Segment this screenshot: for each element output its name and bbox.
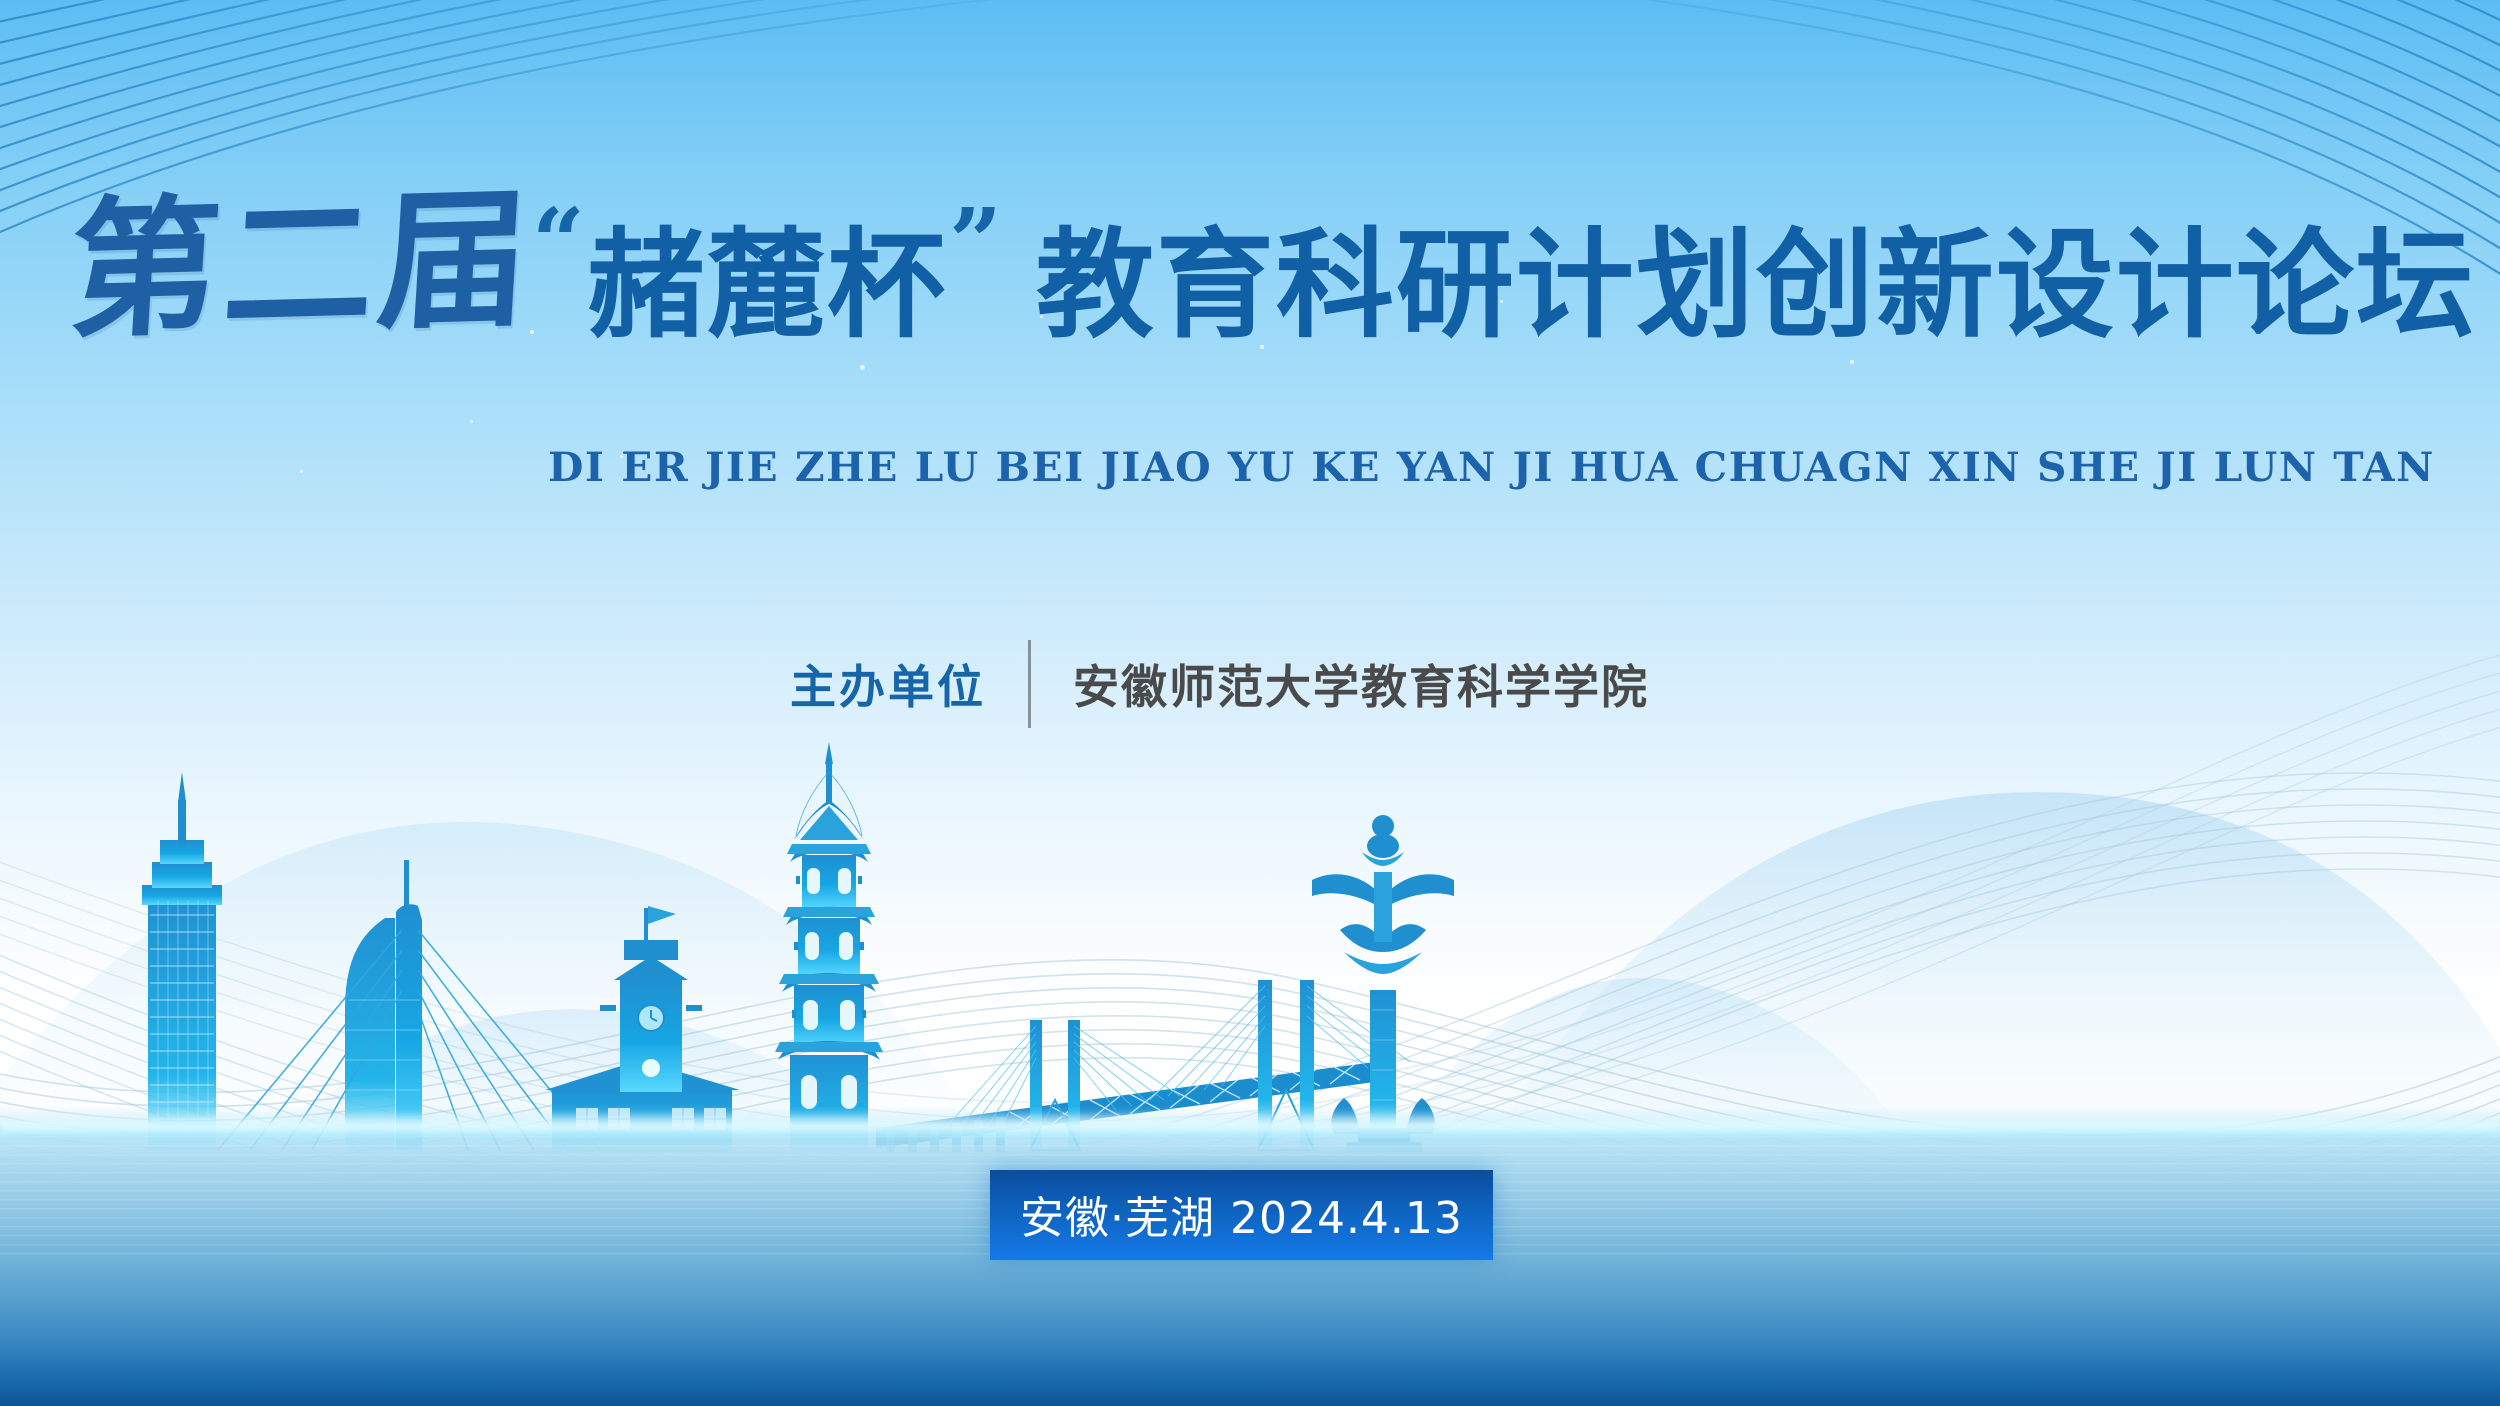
location-date-text: 安徽·芜湖 2024.4.13 — [1020, 1193, 1463, 1244]
organizer-divider — [1028, 640, 1031, 728]
poster-canvas: 第二届 “ 赭麓杯 ” 教育科研计划创新设计论坛 DI ER JIE ZHE L… — [0, 0, 2500, 1406]
organizer-name: 安徽师范大学教育科学学院 — [1073, 651, 1649, 717]
headline-main-title: 教育科研计划创新设计论坛 — [1036, 226, 2476, 346]
sparkle-dot — [470, 420, 473, 423]
headline-pinyin-subtitle: DI ER JIE ZHE LU BEI JIAO YU KE YAN JI H… — [548, 444, 2435, 491]
horizon-glow — [0, 1112, 2500, 1138]
skyscraper-tower — [142, 772, 222, 1150]
headline-cup-name: 赭麓杯 — [587, 226, 947, 346]
headline-ordinal: 第二届 — [65, 184, 537, 352]
chinese-pagoda — [775, 742, 883, 1150]
quote-close-mark: ” — [949, 190, 1002, 288]
sparkle-dot — [1850, 360, 1854, 364]
sparkle-dot — [300, 470, 303, 473]
sparkle-dot — [860, 365, 865, 370]
organizer-row: 主办单位 安徽师范大学教育科学学院 — [790, 640, 1649, 728]
event-headline: 第二届 “ 赭麓杯 ” 教育科研计划创新设计论坛 — [70, 190, 2476, 346]
huabiao-column — [1312, 815, 1454, 1152]
quote-open-mark: “ — [532, 190, 585, 288]
location-date-banner: 安徽·芜湖 2024.4.13 — [990, 1170, 1493, 1260]
organizer-label: 主办单位 — [790, 651, 986, 717]
